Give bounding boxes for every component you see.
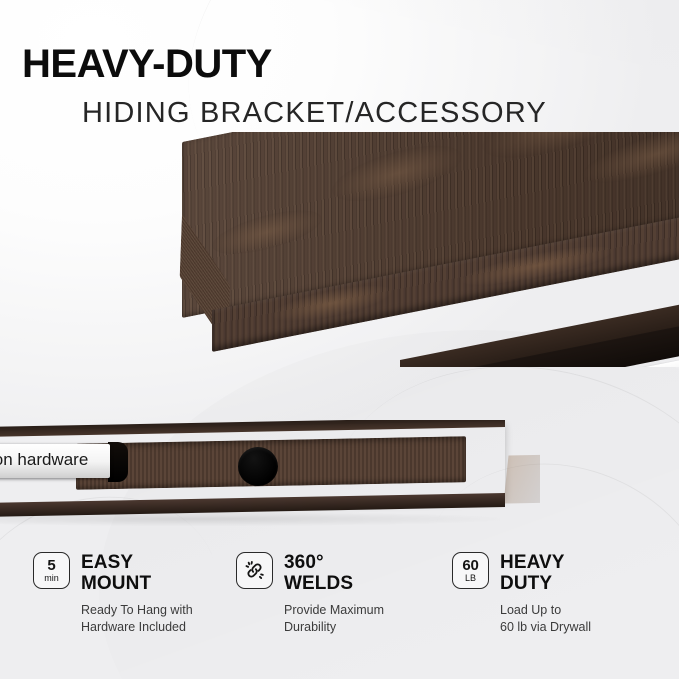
page-title: HEAVY-DUTY	[22, 44, 272, 84]
feature-heavy-duty: 60 LB HEAVY DUTY Load Up to 60 lb via Dr…	[442, 552, 654, 670]
feature-description: Ready To Hang with Hardware Included	[81, 602, 226, 635]
feature-description-line1: Provide Maximum	[284, 602, 442, 619]
product-infographic: HEAVY-DUTY HIDING BRACKET/ACCESSORY inst…	[0, 0, 679, 679]
page-subtitle: HIDING BRACKET/ACCESSORY	[82, 99, 547, 128]
feature-title-line2: WELDS	[284, 574, 353, 595]
feature-description-line2: 60 lb via Drywall	[500, 619, 654, 636]
feature-header: 360° WELDS	[236, 552, 442, 594]
wood-grain-knot	[581, 132, 679, 195]
wood-grain-knot	[331, 134, 464, 212]
shelf-back-label-slot	[108, 442, 128, 482]
feature-title-line1: 360°	[284, 553, 353, 574]
shelf-back-end-grain	[503, 455, 540, 504]
feature-header: 5 min EASY MOUNT	[33, 552, 226, 594]
weight-badge-icon: 60 LB	[452, 552, 489, 589]
shelf-back-drop-shadow	[0, 512, 500, 526]
badge-unit: min	[44, 574, 59, 583]
feature-description: Load Up to 60 lb via Drywall	[500, 602, 654, 635]
feature-title-line1: HEAVY	[500, 553, 565, 574]
badge-value: 5	[47, 558, 55, 573]
badge-unit: LB	[465, 574, 476, 583]
installation-hardware-label-lower: ion hardware	[0, 444, 110, 478]
feature-description-line1: Ready To Hang with	[81, 602, 226, 619]
feature-title-line1: EASY	[81, 553, 151, 574]
feature-title: 360° WELDS	[284, 552, 353, 594]
shelf-back-drill-hole	[238, 447, 278, 486]
chain-link-glyph	[243, 559, 266, 582]
wood-grain-knot	[480, 132, 655, 173]
feature-description: Provide Maximum Durability	[284, 602, 442, 635]
feature-easy-mount: 5 min EASY MOUNT Ready To Hang with Hard…	[0, 552, 226, 670]
feature-description-line1: Load Up to	[500, 602, 654, 619]
feature-header: 60 LB HEAVY DUTY	[452, 552, 654, 594]
wood-grain-knot	[211, 202, 323, 263]
installation-hardware-label-lower-text: ion hardware	[0, 450, 88, 470]
product-photo-shelf-with-bracket: installation h	[0, 132, 679, 367]
feature-description-line2: Hardware Included	[81, 619, 226, 636]
feature-description-line2: Durability	[284, 619, 442, 636]
badge-value: 60	[462, 558, 478, 573]
timer-badge-icon: 5 min	[33, 552, 70, 589]
feature-title-line2: DUTY	[500, 574, 565, 595]
feature-360-welds: 360° WELDS Provide Maximum Durability	[226, 552, 442, 670]
feature-title: EASY MOUNT	[81, 552, 151, 594]
feature-title-line2: MOUNT	[81, 574, 151, 595]
chain-link-icon	[236, 552, 273, 589]
feature-title: HEAVY DUTY	[500, 552, 565, 594]
feature-list: 5 min EASY MOUNT Ready To Hang with Hard…	[0, 552, 679, 670]
